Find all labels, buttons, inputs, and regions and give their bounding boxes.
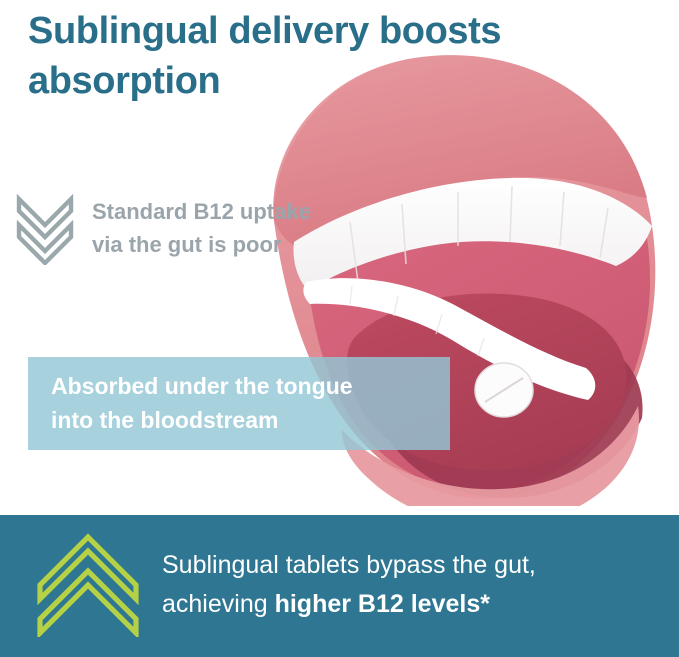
page-title: Sublingual delivery boosts absorption [28,6,628,106]
standard-uptake-text: Standard B12 uptake via the gut is poor [92,196,311,261]
double-chevron-up-icon [34,533,142,637]
sublingual-tablet [475,363,533,417]
standard-uptake-block: Standard B12 uptake via the gut is poor [14,193,311,265]
absorption-callout: Absorbed under the tongue into the blood… [28,357,450,450]
banner-content: Sublingual tablets bypass the gut, achie… [34,533,536,637]
infographic-root: Sublingual delivery boosts absorption St… [0,0,679,657]
banner-line-2: achieving higher B12 levels* [162,585,536,624]
banner-message: Sublingual tablets bypass the gut, achie… [162,546,536,624]
double-chevron-down-icon [14,193,76,265]
banner-line-1: Sublingual tablets bypass the gut, [162,546,536,585]
banner-line-2-bold: higher B12 levels* [275,590,490,618]
banner-line-2-regular: achieving [162,590,275,618]
bottom-banner: Sublingual tablets bypass the gut, achie… [0,515,679,657]
absorption-callout-text: Absorbed under the tongue into the blood… [28,370,450,436]
